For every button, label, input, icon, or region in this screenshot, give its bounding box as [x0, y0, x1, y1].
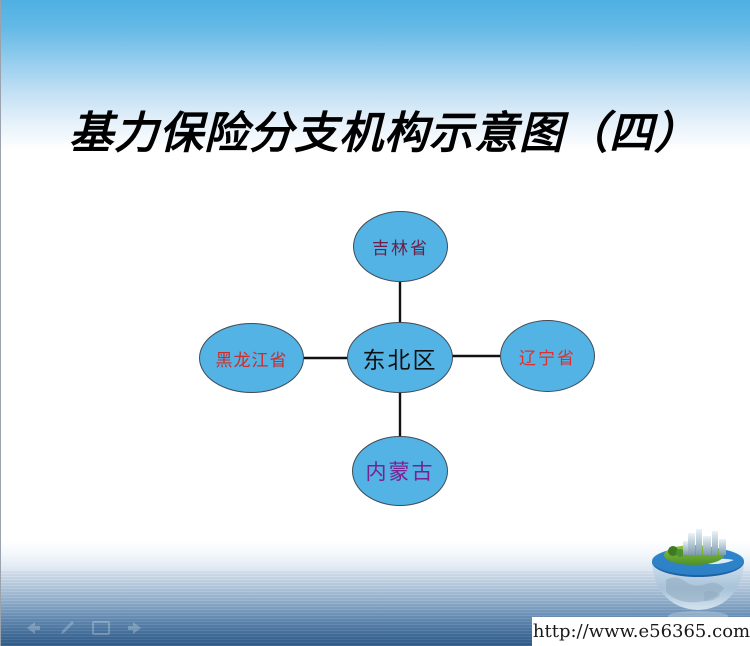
slideshow-nav-controls[interactable]	[23, 619, 145, 637]
diagram-node-dongbeiqu-label: 东北区	[363, 341, 438, 375]
diagram-node-liaoning-label: 辽宁省	[519, 344, 576, 369]
previous-arrow-icon[interactable]	[23, 619, 43, 637]
watermark-url-text: http://www.e56365.com	[533, 621, 750, 642]
globe-city-logo	[646, 528, 750, 622]
next-arrow-icon[interactable]	[125, 619, 145, 637]
diagram-node-neimenggu[interactable]: 内蒙古	[352, 436, 448, 506]
diagram-node-jilin-label: 吉林省	[372, 234, 429, 259]
diagram-connectors	[1, 0, 750, 646]
diagram-node-heilongjiang-label: 黑龙江省	[216, 346, 288, 371]
diagram-node-heilongjiang[interactable]: 黑龙江省	[199, 323, 304, 393]
menu-box-icon[interactable]	[91, 619, 111, 637]
watermark-url-box: http://www.e56365.com	[532, 617, 750, 646]
pen-icon[interactable]	[57, 619, 77, 637]
diagram-node-neimenggu-label: 内蒙古	[366, 456, 435, 486]
diagram-node-dongbeiqu[interactable]: 东北区	[347, 322, 453, 393]
diagram-node-jilin[interactable]: 吉林省	[353, 211, 448, 282]
diagram-node-liaoning[interactable]: 辽宁省	[500, 320, 595, 392]
slide-canvas: 基力保险分支机构示意图（四） 吉林省 黑龙江省 东北区 辽宁省 内蒙古	[0, 0, 750, 646]
org-diagram: 吉林省 黑龙江省 东北区 辽宁省 内蒙古	[1, 0, 750, 646]
